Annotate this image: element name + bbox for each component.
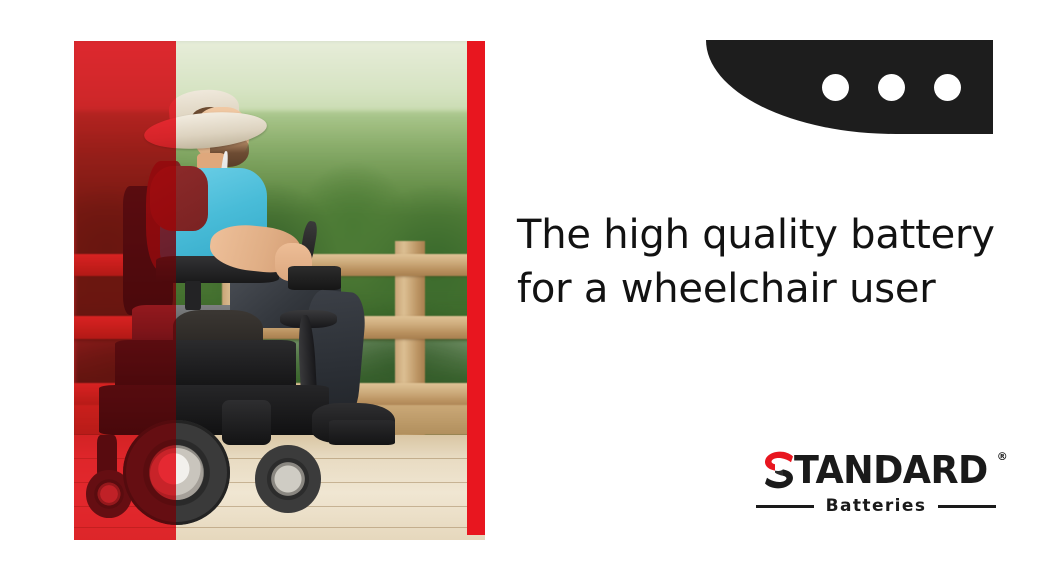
rule-left (756, 505, 814, 508)
registered-trademark-icon: ® (997, 451, 1008, 462)
wheelchair-armrest-post (185, 281, 201, 311)
brand-name-text: TANDARD (794, 450, 988, 490)
brand-logo: TANDARD ® Batteries (762, 450, 994, 522)
wheelchair-rear-wheel (255, 445, 321, 512)
banner-dot-icon (934, 74, 961, 101)
headline: The high quality battery for a wheelchai… (517, 208, 987, 317)
wheelchair-footplate (329, 420, 395, 445)
hero-photo (74, 41, 485, 540)
brand-wordmark: TANDARD ® (762, 450, 994, 492)
brand-subtitle-text: Batteries (826, 497, 927, 515)
headline-line-1: The high quality battery (517, 208, 987, 262)
banner-dot-icon (878, 74, 905, 101)
slide-canvas: The high quality battery for a wheelchai… (0, 0, 1064, 580)
photo-image (74, 41, 485, 540)
wheelchair-motor (222, 400, 271, 445)
banner-dot-icon (822, 74, 849, 101)
photo-red-duotone-lift (74, 41, 176, 540)
wheelchair-control-box (288, 266, 341, 291)
headline-line-2: for a wheelchair user (517, 262, 987, 316)
rule-right (938, 505, 996, 508)
photo-red-accent-bar (467, 41, 485, 535)
black-banner (706, 40, 993, 134)
brand-subtitle-row: Batteries (762, 497, 990, 515)
brand-s-mark-icon (762, 450, 796, 490)
